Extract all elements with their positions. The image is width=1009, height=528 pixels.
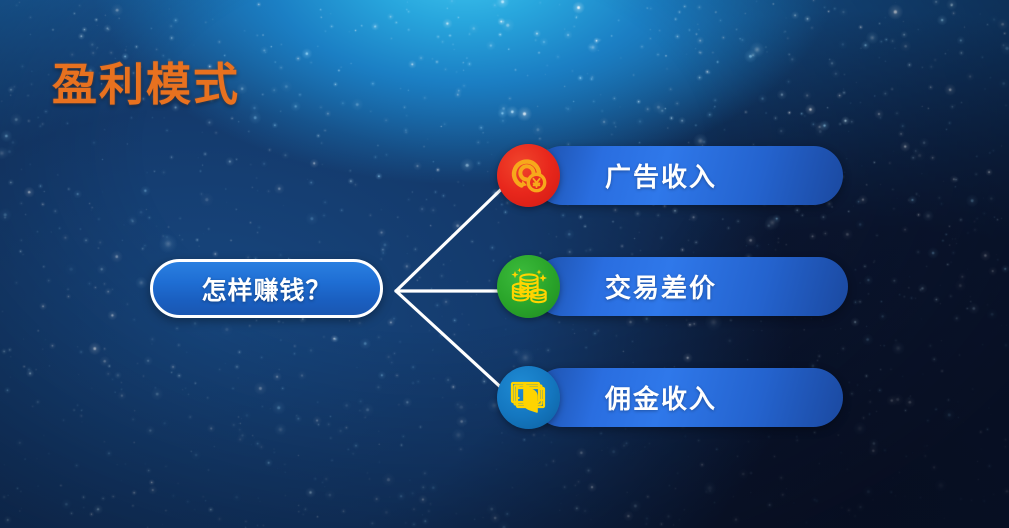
- banknotes-icon: [497, 366, 560, 429]
- branch-item-3[interactable]: 佣金收入: [497, 366, 847, 429]
- branch-item-1[interactable]: 广告收入: [497, 144, 847, 207]
- page-title: 盈利模式: [52, 48, 240, 113]
- branch-pill-3[interactable]: 佣金收入: [533, 368, 843, 427]
- branch-label-2: 交易差价: [605, 268, 717, 305]
- branch-pill-2[interactable]: 交易差价: [533, 257, 848, 316]
- coin-stacks-icon: [497, 255, 560, 318]
- branch-pill-1[interactable]: 广告收入: [533, 146, 843, 205]
- branch-item-2[interactable]: 交易差价: [497, 255, 852, 318]
- slide-canvas: 盈利模式 怎样赚钱？ 广告收入 交易差价: [0, 0, 1009, 528]
- center-node-label: 怎样赚钱？: [201, 271, 331, 307]
- branch-label-1: 广告收入: [605, 157, 717, 194]
- branch-label-3: 佣金收入: [605, 379, 717, 416]
- ad-revenue-yuan-icon: [497, 144, 560, 207]
- center-node[interactable]: 怎样赚钱？: [150, 259, 383, 318]
